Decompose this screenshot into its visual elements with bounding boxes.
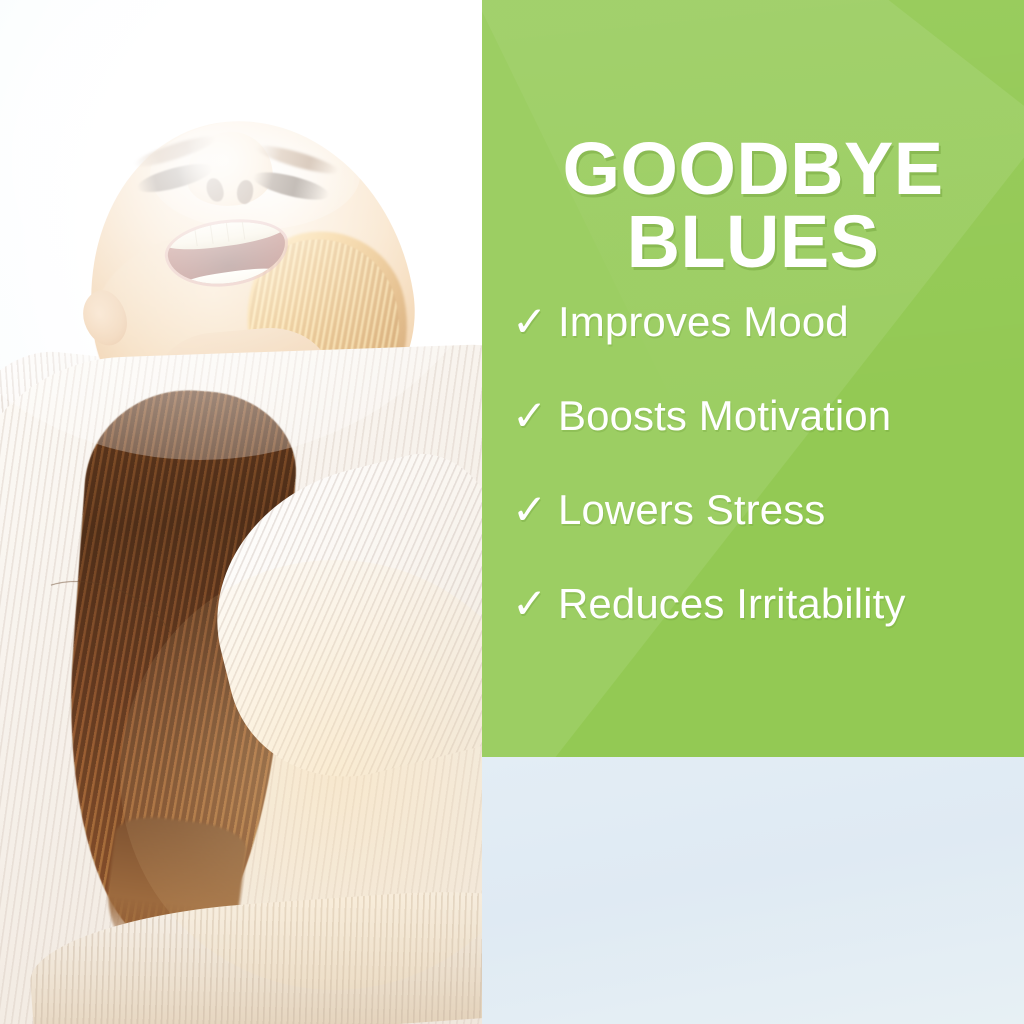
list-item: ✓ Boosts Motivation	[512, 392, 1016, 440]
list-item: ✓ Reduces Irritability	[512, 580, 1016, 628]
benefit-label: Boosts Motivation	[558, 395, 891, 437]
checkmark-icon: ✓	[512, 489, 558, 531]
checkmark-icon: ✓	[512, 301, 558, 343]
list-item: ✓ Lowers Stress	[512, 486, 1016, 534]
title-line-2: BLUES	[482, 205, 1024, 278]
benefit-label: Reduces Irritability	[558, 583, 905, 625]
page-title: GOODBYE BLUES	[482, 132, 1024, 279]
benefit-label: Lowers Stress	[558, 489, 825, 531]
benefit-label: Improves Mood	[558, 301, 849, 343]
promo-banner: GOODBYE BLUES ✓ Improves Mood ✓ Boosts M…	[0, 0, 1024, 1024]
list-item: ✓ Improves Mood	[512, 298, 1016, 346]
bottom-sky-strip	[482, 757, 1024, 1024]
benefits-list: ✓ Improves Mood ✓ Boosts Motivation ✓ Lo…	[512, 298, 1016, 628]
checkmark-icon: ✓	[512, 395, 558, 437]
green-content-panel: GOODBYE BLUES ✓ Improves Mood ✓ Boosts M…	[482, 0, 1024, 757]
checkmark-icon: ✓	[512, 583, 558, 625]
title-line-1: GOODBYE	[562, 127, 943, 210]
